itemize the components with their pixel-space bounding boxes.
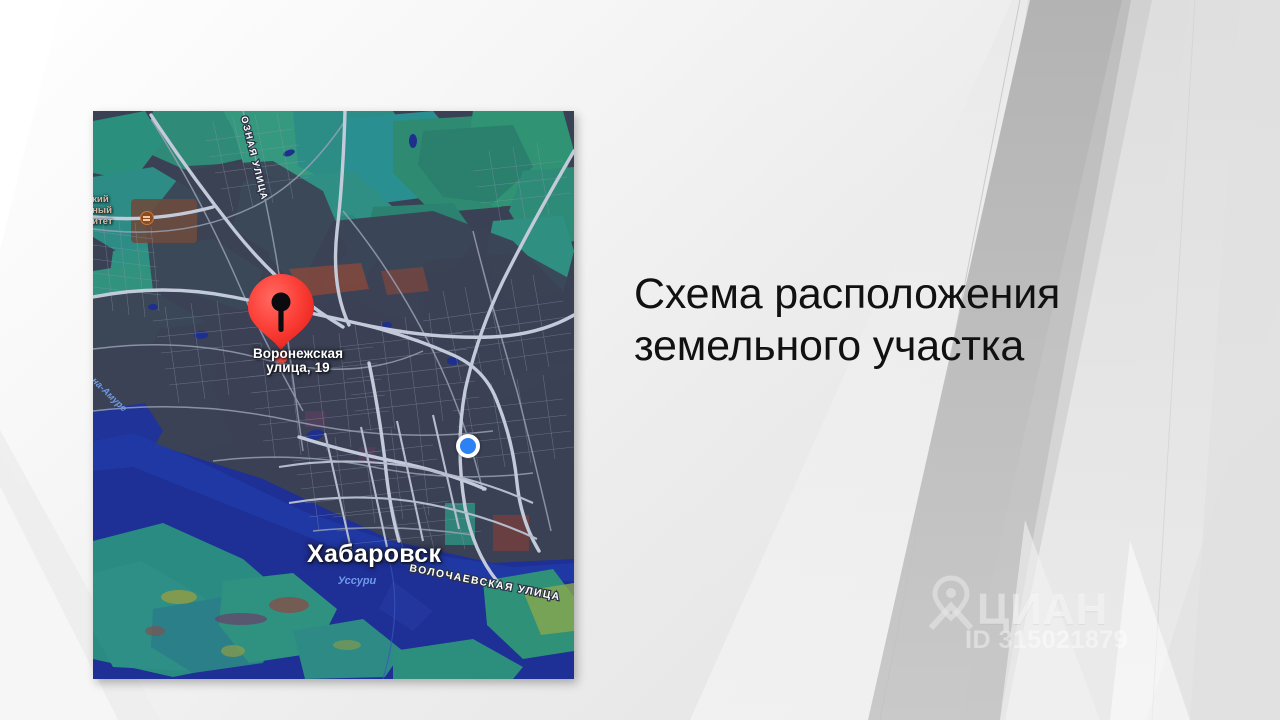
map-marker-pin[interactable]	[245, 272, 319, 356]
location-pin-icon	[925, 574, 977, 630]
slide-canvas: ОЗНАЯ УЛИЦА ВОЛОЧАЕВСКАЯ УЛИЦА Уссури -н…	[0, 0, 1280, 720]
poi-university-label: нский енный оситет	[93, 194, 113, 227]
watermark: ЦИАН ID 315021879	[925, 572, 1175, 672]
page-title: Схема расположения земельного участка	[634, 268, 1104, 372]
university-icon	[140, 211, 154, 225]
city-label: Хабаровск	[307, 540, 441, 569]
watermark-id: ID 315021879	[965, 626, 1128, 655]
river-label-ussuri: Уссури	[338, 575, 377, 587]
map-image[interactable]: ОЗНАЯ УЛИЦА ВОЛОЧАЕВСКАЯ УЛИЦА Уссури -н…	[93, 111, 574, 679]
map-canvas: ОЗНАЯ УЛИЦА ВОЛОЧАЕВСКАЯ УЛИЦА Уссури -н…	[93, 111, 574, 679]
map-marker-label: Воронежская улица, 19	[188, 347, 408, 375]
city-dot-marker[interactable]	[456, 434, 480, 458]
watermark-brand: ЦИАН	[977, 585, 1108, 635]
